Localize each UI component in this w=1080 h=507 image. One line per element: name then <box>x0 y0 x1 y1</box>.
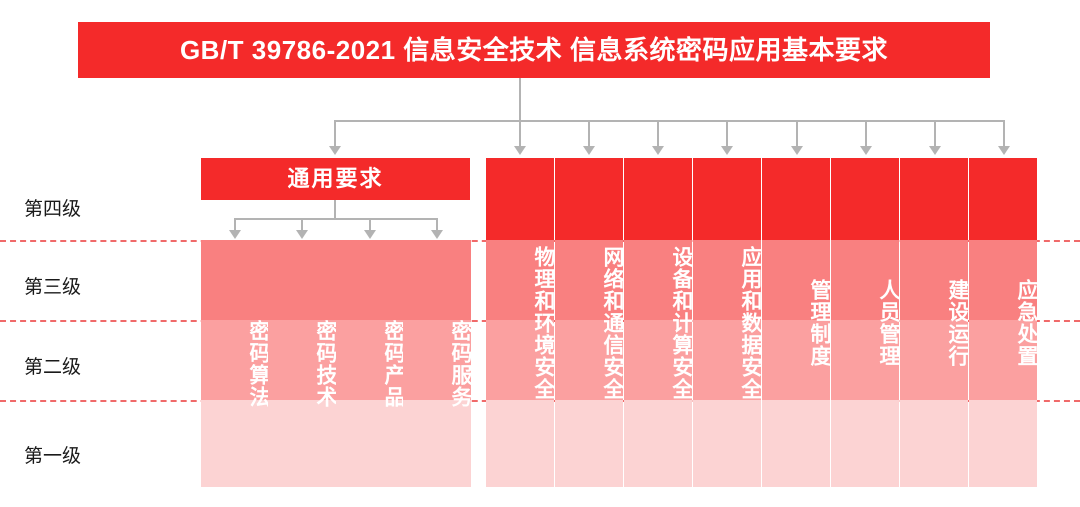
col-personnel-management[interactable]: 人员管理 <box>831 158 899 487</box>
col-label-personnel-management: 人员管理 <box>831 164 899 481</box>
diagram-title-banner: GB/T 39786-2021 信息安全技术 信息系统密码应用基本要求 <box>78 22 990 78</box>
arrow-head-emergency-response <box>998 146 1010 155</box>
col-cipher-algorithm[interactable]: 密码算法 <box>201 240 269 487</box>
col-cipher-technology[interactable]: 密码技术 <box>268 240 336 487</box>
col-label-cipher-algorithm: 密码算法 <box>201 246 269 481</box>
drop-line-construction-operation <box>934 120 936 147</box>
general-requirements-box[interactable]: 通用要求 <box>201 158 470 200</box>
col-label-emergency-response: 应急处置 <box>969 164 1037 481</box>
col-label-device-computing: 设备和计算安全 <box>624 164 692 481</box>
col-label-construction-operation: 建设运行 <box>900 164 968 481</box>
drop-line-device-computing <box>657 120 659 147</box>
arrow-head-physical-environment <box>514 146 526 155</box>
col-label-physical-environment: 物理和环境安全 <box>486 164 554 481</box>
col-label-cipher-service: 密码服务 <box>403 246 471 481</box>
level-label-2: 第二级 <box>24 358 81 377</box>
level-label-1: 第一级 <box>24 447 81 466</box>
col-label-cipher-product: 密码产品 <box>336 246 404 481</box>
level-label-4: 第四级 <box>24 200 81 219</box>
col-device-computing[interactable]: 设备和计算安全 <box>624 158 692 487</box>
main-bus-line <box>334 120 1004 122</box>
general-bus-line <box>234 218 436 220</box>
arrow-head-general <box>329 146 341 155</box>
col-construction-operation[interactable]: 建设运行 <box>900 158 968 487</box>
arrow-head-application-data <box>721 146 733 155</box>
diagram-title-text: GB/T 39786-2021 信息安全技术 信息系统密码应用基本要求 <box>180 37 888 63</box>
arrow-head-personnel-management <box>860 146 872 155</box>
col-application-data[interactable]: 应用和数据安全 <box>693 158 761 487</box>
arrow-head-management-system <box>791 146 803 155</box>
title-stem-line <box>519 78 521 120</box>
col-cipher-service[interactable]: 密码服务 <box>403 240 471 487</box>
general-requirements-label: 通用要求 <box>287 168 383 190</box>
col-emergency-response[interactable]: 应急处置 <box>969 158 1037 487</box>
level-label-3: 第三级 <box>24 278 81 297</box>
col-network-communication[interactable]: 网络和通信安全 <box>555 158 623 487</box>
col-label-cipher-technology: 密码技术 <box>268 246 336 481</box>
general-stem-line <box>334 200 336 218</box>
col-label-network-communication: 网络和通信安全 <box>555 164 623 481</box>
arrow-head-construction-operation <box>929 146 941 155</box>
col-management-system[interactable]: 管理制度 <box>762 158 830 487</box>
arrow-head-cipher-algorithm <box>229 230 241 239</box>
drop-line-network-communication <box>588 120 590 147</box>
arrow-head-cipher-product <box>364 230 376 239</box>
drop-line-physical-environment <box>519 120 521 147</box>
col-label-management-system: 管理制度 <box>762 164 830 481</box>
arrow-head-network-communication <box>583 146 595 155</box>
arrow-head-cipher-technology <box>296 230 308 239</box>
drop-line-application-data <box>726 120 728 147</box>
drop-line-emergency-response <box>1003 120 1005 147</box>
col-cipher-product[interactable]: 密码产品 <box>336 240 404 487</box>
arrow-head-device-computing <box>652 146 664 155</box>
col-physical-environment[interactable]: 物理和环境安全 <box>486 158 554 487</box>
diagram-canvas: GB/T 39786-2021 信息安全技术 信息系统密码应用基本要求 通用要求… <box>0 0 1080 507</box>
drop-line-management-system <box>796 120 798 147</box>
drop-line-personnel-management <box>865 120 867 147</box>
arrow-head-cipher-service <box>431 230 443 239</box>
drop-line-general <box>334 120 336 147</box>
col-label-application-data: 应用和数据安全 <box>693 164 761 481</box>
